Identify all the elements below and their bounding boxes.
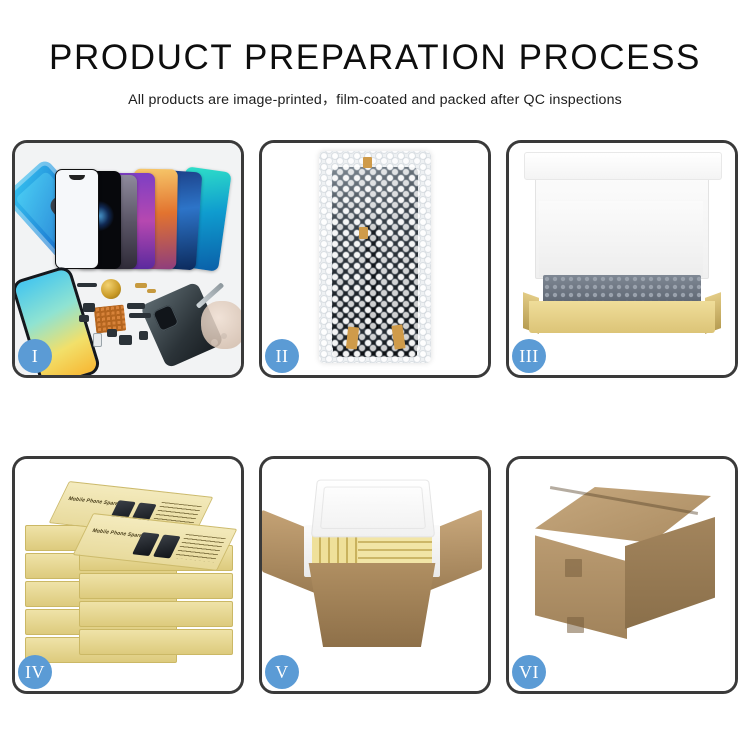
gold-coil-part — [101, 279, 121, 299]
step-badge-1: I — [18, 339, 52, 373]
step-badge-3: III — [512, 339, 546, 373]
foam-inner-sheet — [539, 201, 703, 277]
tape-tab-middle — [359, 227, 368, 239]
page-header: PRODUCT PREPARATION PROCESS All products… — [0, 0, 750, 109]
process-step-panel-5: V — [259, 456, 491, 694]
carton-body — [300, 563, 444, 647]
open-carton-packed-image — [262, 459, 488, 691]
process-step-panel-6: VI — [506, 456, 738, 694]
process-step-panel-1: I — [12, 140, 244, 378]
page-title: PRODUCT PREPARATION PROCESS — [0, 40, 750, 77]
carton-tape-tab-lower — [567, 617, 584, 633]
bubble-wrapped-part-image — [262, 143, 488, 375]
process-step-panel-2: II — [259, 140, 491, 378]
stacked-box-front-4 — [79, 629, 233, 655]
small-part-gold-2 — [147, 289, 156, 293]
box-spec-lines-second — [174, 534, 226, 562]
process-step-panel-4: Mobile Phone Spare Parts Mobile Phone Sp… — [12, 456, 244, 694]
foam-lid-open — [311, 480, 435, 538]
stacked-box-front-2 — [79, 573, 233, 599]
page-subtitle: All products are image-printed，film-coat… — [0, 89, 750, 109]
step-badge-6: VI — [512, 655, 546, 689]
small-part-flex-2 — [129, 313, 151, 318]
step-badge-5: V — [265, 655, 299, 689]
tape-tab-bottom-right — [391, 324, 405, 349]
carton-tape-tab-upper — [565, 559, 582, 577]
technician-hand — [201, 301, 241, 349]
stacked-box-front-3 — [79, 601, 233, 627]
bubble-wrap-pouch — [319, 151, 431, 363]
small-part-flex — [127, 303, 145, 309]
small-part-strip — [77, 283, 97, 287]
small-part-chip-2 — [79, 315, 89, 322]
tape-tab-bottom-left — [346, 326, 359, 349]
small-part-white — [93, 333, 102, 347]
process-step-panel-3: III — [506, 140, 738, 378]
open-yellow-box-image — [509, 143, 735, 375]
product-preparation-page: PRODUCT PREPARATION PROCESS All products… — [0, 0, 750, 750]
tape-tab-top — [363, 157, 372, 168]
step-badge-2: II — [265, 339, 299, 373]
box-front-panel — [529, 301, 715, 333]
parts-collage-image — [15, 143, 241, 375]
small-part-chip-3 — [107, 329, 117, 337]
small-part-gold — [135, 283, 147, 288]
box-stack: Mobile Phone Spare Parts Mobile Phone Sp… — [21, 473, 235, 669]
sealed-carton-image — [509, 459, 735, 691]
small-part-chip-4 — [119, 335, 132, 345]
process-steps-grid: I II — [12, 140, 738, 700]
wrapped-screen-assembly — [332, 167, 418, 351]
stacked-retail-boxes-image: Mobile Phone Spare Parts Mobile Phone Sp… — [15, 459, 241, 691]
small-part-chip — [83, 303, 95, 312]
phone-fan-group — [89, 157, 229, 269]
small-part-chip-5 — [139, 331, 148, 340]
screen-glass-protector — [55, 169, 99, 269]
step-badge-4: IV — [18, 655, 52, 689]
